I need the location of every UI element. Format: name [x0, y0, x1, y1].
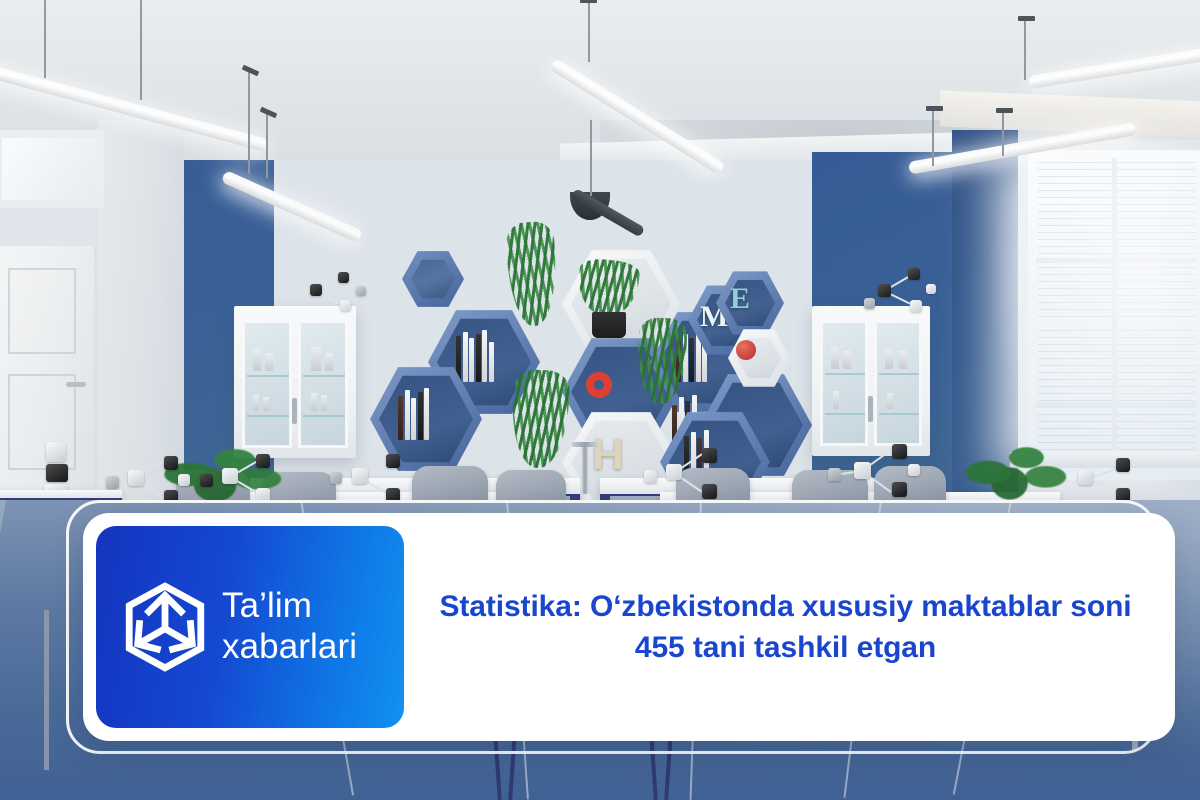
- headline-text: Statistika: Oʻzbekistonda xususiy maktab…: [422, 586, 1149, 669]
- news-card[interactable]: Ta’lim xabarlari Statistika: Oʻzbekiston…: [83, 513, 1175, 741]
- molecular-model-wall-right: [862, 264, 938, 320]
- shelf-letter-H: H: [592, 430, 624, 480]
- cube-outline-arrows-icon: [122, 581, 208, 673]
- shelf-books: [398, 388, 429, 440]
- pendant-cord: [266, 112, 268, 178]
- pendant-cap: [1018, 16, 1035, 21]
- shelf-letter-O: [586, 372, 612, 398]
- cabinet-handle: [868, 396, 873, 422]
- pendant-cord: [932, 108, 934, 166]
- shelf-letter-E: E: [730, 282, 750, 316]
- door-panel-top: [8, 268, 76, 354]
- molecular-model-desk-5: [640, 440, 732, 508]
- cabinet-door: [298, 320, 348, 448]
- shelf-books: [456, 330, 494, 382]
- pendant-cord: [588, 0, 590, 62]
- plant-pot: [592, 312, 626, 338]
- pendant-cord: [590, 120, 592, 196]
- cabinet-door: [242, 320, 292, 448]
- pendant-cord: [1024, 18, 1026, 80]
- door-handle: [66, 382, 86, 387]
- table-leg: [44, 610, 49, 770]
- molecular-model-desk-4: [330, 446, 416, 508]
- molecular-model-wall-left: [300, 268, 370, 318]
- window-mullion-lower: [1036, 402, 1196, 408]
- molecular-model-desk-6: [826, 436, 922, 508]
- cabinet-door: [874, 320, 922, 446]
- window-mullion-horizontal: [1036, 258, 1196, 263]
- lab-faucet-spout: [572, 442, 598, 447]
- shelf-red-ball: [736, 340, 756, 360]
- cabinet-handle: [292, 398, 297, 424]
- pendant-cord: [248, 70, 250, 174]
- screenshot-root: H H M E: [0, 0, 1200, 800]
- pendant-cap: [996, 108, 1013, 113]
- cabinet-door: [820, 320, 868, 446]
- window-blind-upper: [1038, 162, 1196, 322]
- brand-badge[interactable]: Ta’lim xabarlari: [96, 526, 404, 728]
- floor-plant-right: [952, 428, 1072, 502]
- transom-window: [0, 130, 104, 208]
- pendant-cord: [1002, 110, 1004, 156]
- pendant-cap: [926, 106, 943, 111]
- brand-name: Ta’lim xabarlari: [222, 586, 357, 667]
- pendant-cord: [44, 0, 46, 78]
- cabinet-right: [812, 306, 930, 456]
- headline-container: Statistika: Oʻzbekistonda xususiy maktab…: [404, 513, 1175, 741]
- pendant-cord: [140, 0, 142, 100]
- lab-faucet-column: [582, 442, 588, 494]
- pendant-cap: [580, 0, 597, 3]
